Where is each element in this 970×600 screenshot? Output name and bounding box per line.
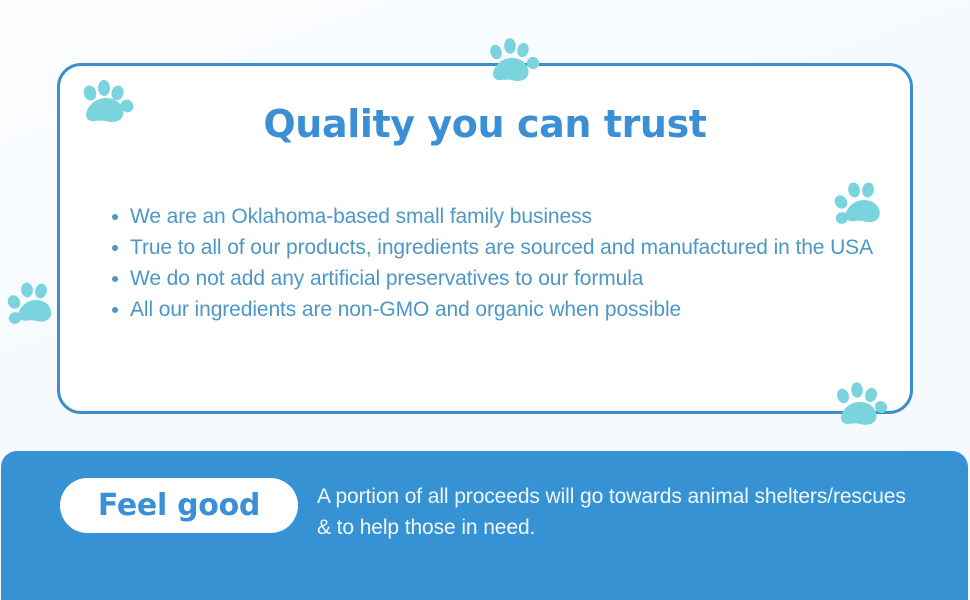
- page-title: Quality you can trust: [60, 102, 910, 146]
- promo-graphic: Quality you can trust We are an Oklahoma…: [0, 0, 970, 600]
- list-item: We do not add any artificial preservativ…: [106, 263, 890, 294]
- list-item: We are an Oklahoma-based small family bu…: [106, 201, 890, 232]
- quality-card: Quality you can trust We are an Oklahoma…: [57, 63, 913, 414]
- feel-good-banner: Feel good A portion of all proceeds will…: [1, 451, 968, 600]
- feel-good-pill-label: Feel good: [98, 488, 260, 523]
- feel-good-pill: Feel good: [60, 478, 298, 533]
- banner-message: A portion of all proceeds will go toward…: [317, 481, 917, 543]
- list-item: True to all of our products, ingredients…: [106, 232, 890, 263]
- quality-bullet-list: We are an Oklahoma-based small family bu…: [106, 201, 890, 325]
- paw-print-icon: [2, 280, 56, 332]
- list-item: All our ingredients are non-GMO and orga…: [106, 294, 890, 325]
